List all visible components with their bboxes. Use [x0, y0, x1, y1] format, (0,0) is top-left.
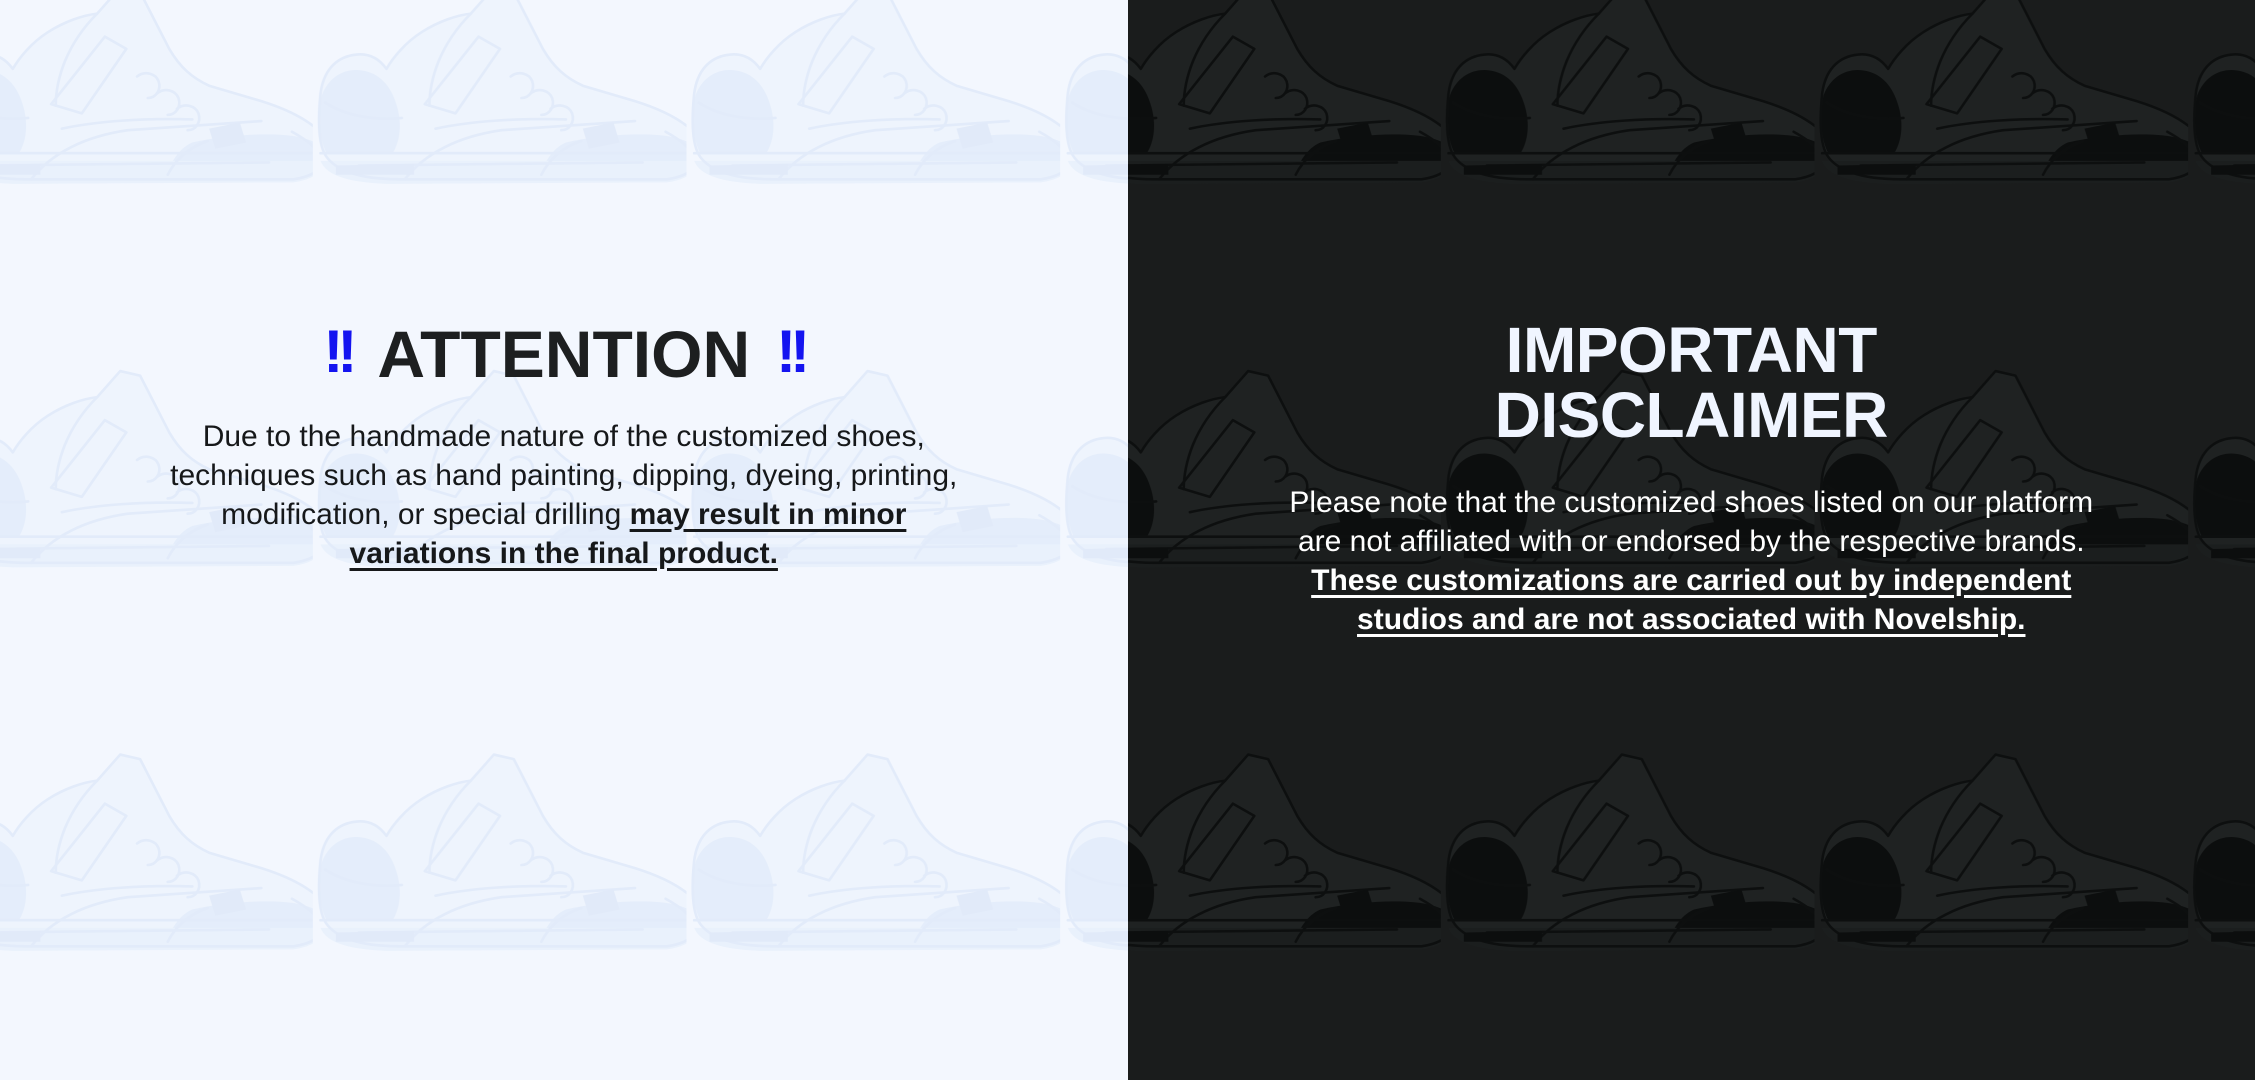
disclaimer-heading-line2: DISCLAIMER — [1495, 379, 1888, 451]
disclaimer-heading: IMPORTANT DISCLAIMER — [1311, 318, 2071, 449]
attention-panel: !! ATTENTION !! Due to the handmade natu… — [0, 0, 1128, 1080]
double-exclamation-icon-right: !! — [776, 322, 804, 382]
disclaimer-body-plain: Please note that the customized shoes li… — [1289, 486, 2093, 558]
disclaimer-panel: IMPORTANT DISCLAIMER Please note that th… — [1128, 0, 2255, 1080]
disclaimer-body: Please note that the customized shoes li… — [1281, 483, 2101, 639]
disclaimer-body-emphasis: These customizations are carried out by … — [1311, 564, 2071, 636]
attention-heading-text: ATTENTION — [377, 322, 750, 387]
double-exclamation-icon-left: !! — [323, 322, 351, 382]
disclaimer-banner: !! ATTENTION !! Due to the handmade natu… — [0, 0, 2255, 1080]
disclaimer-heading-line1: IMPORTANT — [1506, 314, 1877, 386]
disclaimer-content: IMPORTANT DISCLAIMER Please note that th… — [1128, 318, 2255, 639]
attention-content: !! ATTENTION !! Due to the handmade natu… — [0, 322, 1128, 573]
attention-heading: !! ATTENTION !! — [40, 322, 1088, 387]
attention-body: Due to the handmade nature of the custom… — [164, 417, 964, 573]
